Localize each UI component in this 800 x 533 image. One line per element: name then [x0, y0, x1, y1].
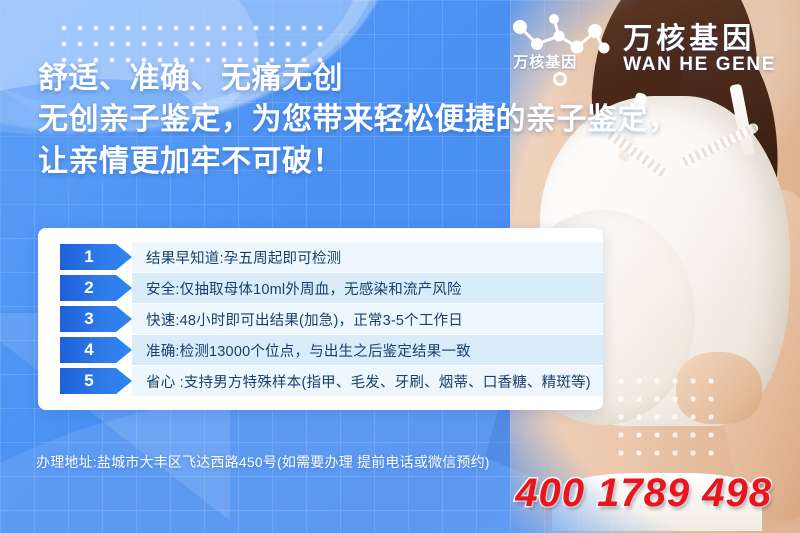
feature-text: 快速:48小时即可出结果(加急)，正常3-5个工作日	[132, 304, 603, 334]
brand-logo[interactable]: 万核基因 万核基因 WAN HE GENE	[507, 14, 776, 86]
feature-number-badge: 4	[60, 337, 132, 363]
feature-number-badge: 2	[60, 275, 132, 301]
headline-line-3: 让亲情更加牢不可破！	[38, 141, 638, 182]
molecule-icon: 万核基因	[507, 14, 615, 86]
feature-number-badge: 1	[60, 244, 132, 270]
office-address: 办理地址:盐城市大丰区飞达西路450号(如需要办理 提前电话或微信预约)	[36, 452, 490, 472]
poster-canvas: 万核基因 万核基因 WAN HE GENE 舒适、准确、无痛无创 无创亲子鉴定，…	[0, 0, 800, 533]
feature-number-badge: 5	[60, 368, 132, 394]
feature-list-card: 1 结果早知道:孕五周起即可检测 2 安全:仅抽取母体10ml外周血，无感染和流…	[38, 228, 603, 410]
feature-text: 准确:检测13000个位点，与出生之后鉴定结果一致	[132, 335, 603, 365]
feature-row: 4 准确:检测13000个位点，与出生之后鉴定结果一致	[38, 335, 603, 365]
feature-text: 安全:仅抽取母体10ml外周血，无感染和流产风险	[132, 273, 603, 303]
feature-text: 省心 :支持男方特殊样本(指甲、毛发、牙刷、烟蒂、口香糖、精斑等)	[132, 366, 603, 396]
dot-pattern-right	[612, 372, 720, 462]
feature-row: 2 安全:仅抽取母体10ml外周血，无感染和流产风险	[38, 273, 603, 303]
logo-wordmark: 万核基因 WAN HE GENE	[623, 24, 776, 76]
feature-text: 结果早知道:孕五周起即可检测	[132, 242, 603, 272]
feature-row: 5 省心 :支持男方特殊样本(指甲、毛发、牙刷、烟蒂、口香糖、精斑等)	[38, 366, 603, 396]
feature-number-badge: 3	[60, 306, 132, 332]
headline-line-2: 无创亲子鉴定，为您带来轻松便捷的亲子鉴定，	[38, 99, 638, 140]
feature-row: 3 快速:48小时即可出结果(加急)，正常3-5个工作日	[38, 304, 603, 334]
logo-name-cn: 万核基因	[623, 24, 755, 55]
hotline-number[interactable]: 400 1789 498	[515, 471, 772, 516]
logo-name-en: WAN HE GENE	[623, 54, 776, 76]
logo-mark-label: 万核基因	[513, 51, 577, 72]
feature-row: 1 结果早知道:孕五周起即可检测	[38, 242, 603, 272]
